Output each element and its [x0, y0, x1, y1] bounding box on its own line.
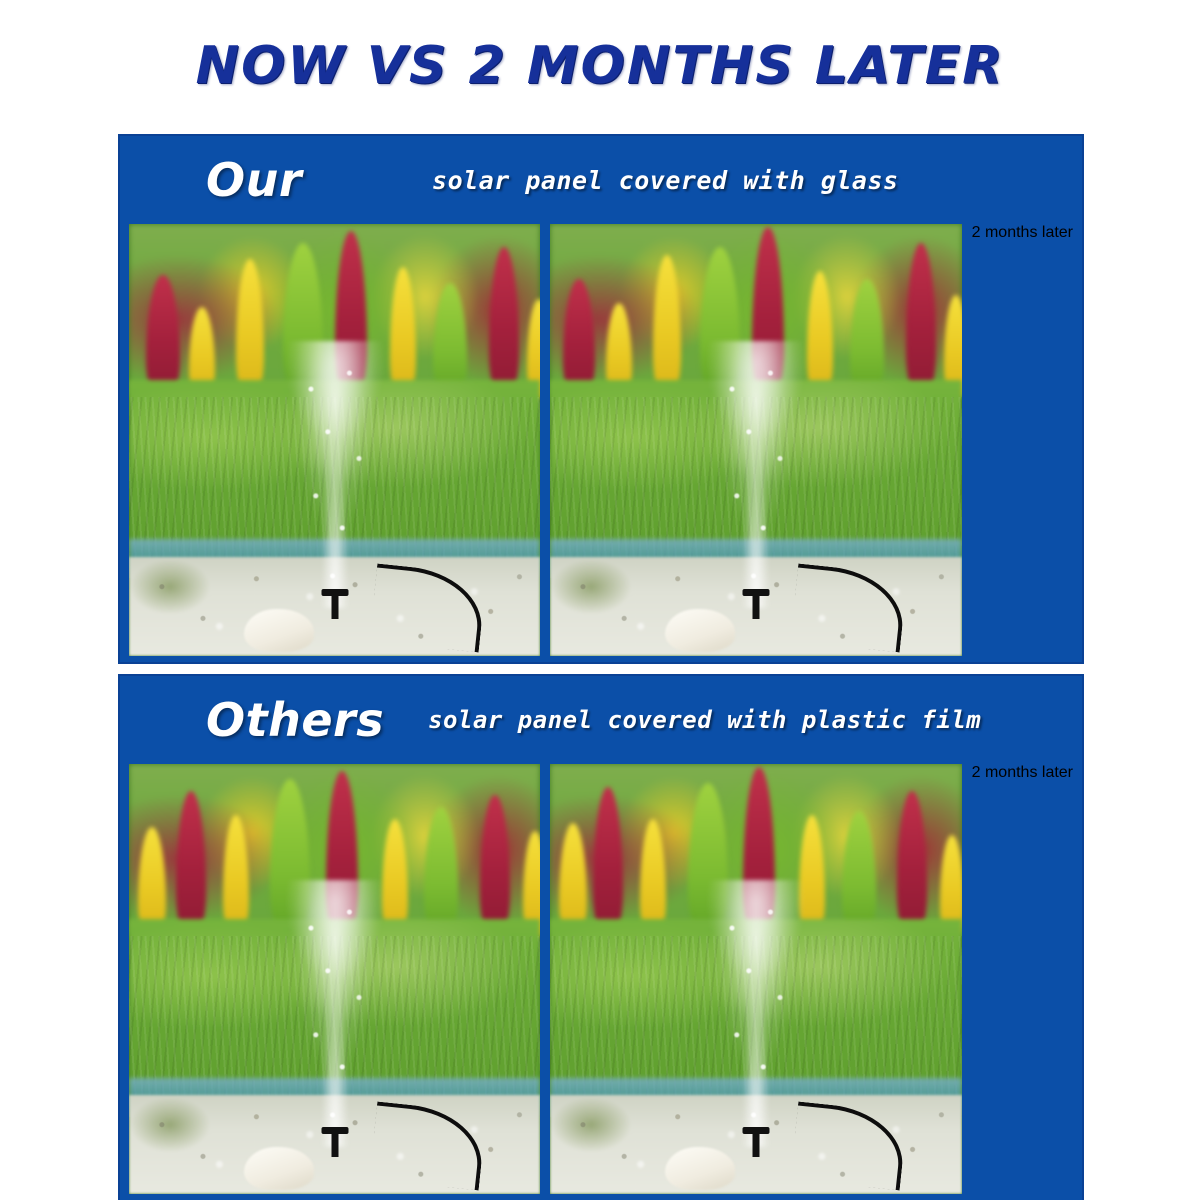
white-stone [244, 1147, 314, 1190]
red-celosia-flower [335, 231, 367, 398]
photo-others-later [550, 764, 961, 1194]
photo-others-now [129, 764, 540, 1194]
solar-panel-our-now [192, 386, 301, 516]
solar-panel-our-later [601, 386, 710, 516]
photo-our-later [550, 224, 961, 656]
red-celosia-flower [906, 243, 936, 398]
solar-panel-others-now [188, 926, 296, 1071]
description-label-our: solar panel covered with glass [432, 166, 899, 195]
solar-panel-others-later [597, 917, 713, 1076]
red-celosia-flower [897, 791, 927, 937]
badge-label: 2 months later [972, 764, 1073, 782]
red-celosia-flower [176, 791, 206, 937]
two-months-later-badge-bottom: 2 months later [972, 764, 1073, 1194]
red-celosia-flower [593, 787, 623, 937]
photo-pair-others: 2 months later [129, 764, 1073, 1194]
red-celosia-flower [752, 227, 784, 398]
description-label-others: solar panel covered with plastic film [428, 706, 981, 734]
badge-label: 2 months later [972, 224, 1073, 242]
green-foliage [688, 783, 728, 937]
green-foliage [700, 247, 740, 398]
product-comparison-image: NOW VS 2 MONTHS LATER Our solar panel co… [0, 0, 1200, 1200]
page-title: NOW VS 2 MONTHS LATER [0, 36, 1200, 96]
comparison-card-our: Our solar panel covered with glass [118, 134, 1084, 664]
red-celosia-flower [743, 767, 775, 937]
photo-pair-our: 2 months later [129, 224, 1073, 656]
green-foliage [283, 243, 323, 398]
comparison-card-others: Others solar panel covered with plastic … [118, 674, 1084, 1200]
white-stone [244, 609, 314, 652]
yellow-flower [236, 259, 264, 398]
red-celosia-flower [489, 247, 519, 398]
card-header-our: Our solar panel covered with glass [120, 136, 1082, 224]
white-stone [665, 1147, 735, 1190]
photo-our-now [129, 224, 540, 656]
green-foliage [270, 779, 310, 937]
two-months-later-badge-top: 2 months later [972, 224, 1073, 656]
brand-label-others: Others [206, 693, 384, 747]
green-foliage [424, 807, 458, 938]
red-celosia-flower [326, 771, 358, 937]
brand-label-our: Our [206, 153, 302, 207]
card-header-others: Others solar panel covered with plastic … [120, 676, 1082, 764]
yellow-flower [653, 255, 681, 398]
white-stone [665, 609, 735, 652]
red-celosia-flower [480, 795, 510, 937]
